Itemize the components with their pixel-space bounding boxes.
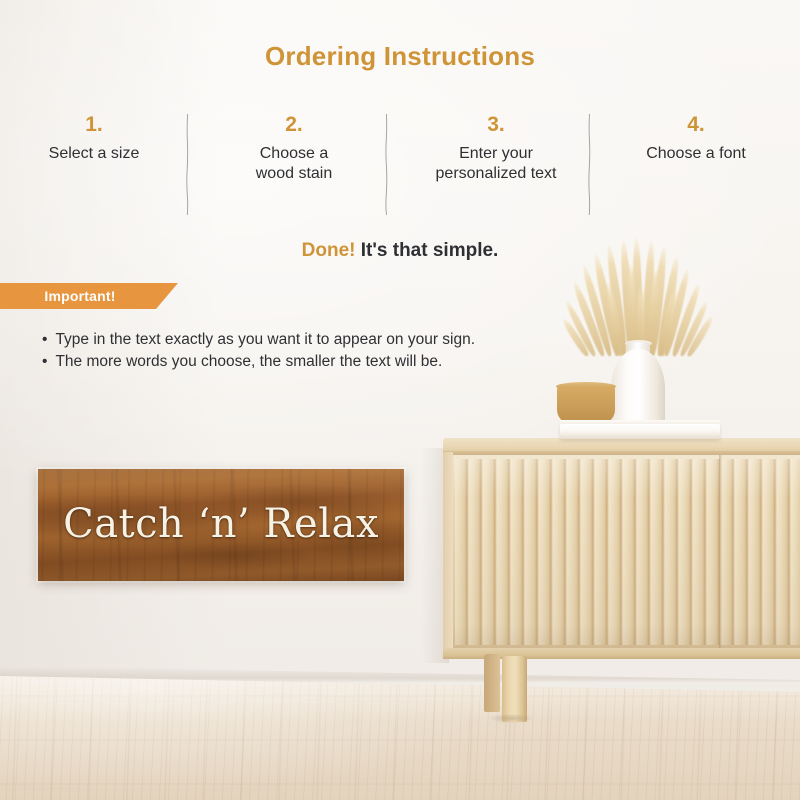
step-number: 2. — [196, 112, 392, 138]
step-item-3: 3. Enter your personalized text — [398, 112, 594, 184]
bullet-icon: • — [42, 351, 47, 373]
important-ribbon-banner: Important! — [0, 283, 178, 309]
wood-floor — [0, 674, 800, 800]
done-rest: It's that simple. — [361, 240, 499, 261]
step-item-1: 1. Select a size — [0, 112, 192, 164]
step-number: 3. — [398, 112, 594, 138]
list-item: • The more words you choose, the smaller… — [42, 351, 642, 373]
divider-line-icon — [186, 112, 189, 217]
white-book-tray — [560, 424, 720, 439]
page-title: Ordering Instructions — [0, 41, 800, 72]
step-number: 4. — [598, 112, 794, 138]
note-text: Type in the text exactly as you want it … — [55, 329, 475, 351]
cabinet-left-side-panel — [443, 452, 453, 659]
done-highlight: Done! — [302, 240, 356, 261]
cabinet-door-panel — [447, 455, 800, 651]
step-label: Enter your personalized text — [398, 144, 594, 184]
cabinet-shading — [447, 455, 800, 651]
divider-line-icon — [588, 112, 591, 217]
step-label: Select a size — [0, 144, 192, 164]
divider-line-icon — [385, 112, 388, 217]
notes-list: • Type in the text exactly as you want i… — [42, 329, 642, 373]
step-divider-3 — [588, 112, 591, 217]
note-text: The more words you choose, the smaller t… — [55, 351, 442, 373]
done-message: Done! It's that simple. — [0, 240, 800, 262]
step-divider-2 — [385, 112, 388, 217]
cabinet-leg-shadow — [479, 714, 543, 725]
step-label: Choose a wood stain — [196, 144, 392, 184]
step-divider-1 — [186, 112, 189, 217]
step-number: 1. — [0, 112, 192, 138]
step-item-2: 2. Choose a wood stain — [196, 112, 392, 184]
steps-row: 1. Select a size 2. Choose a wood stain … — [0, 112, 800, 217]
wood-sign-text: Catch ‘n’ Relax — [38, 469, 404, 581]
personalized-wood-sign: Catch ‘n’ Relax — [38, 469, 404, 581]
step-item-4: 4. Choose a font — [598, 112, 794, 164]
bullet-icon: • — [42, 329, 47, 351]
instructions-panel: Ordering Instructions 1. Select a size 2… — [0, 0, 800, 420]
cabinet-door-seam — [719, 455, 722, 651]
fluted-sideboard-cabinet — [443, 438, 800, 670]
floor-light-sheen — [0, 674, 800, 800]
cabinet-leg-rear — [484, 654, 500, 712]
cabinet-leg-front — [502, 656, 527, 722]
step-label: Choose a font — [598, 144, 794, 164]
important-label: Important! — [44, 288, 115, 304]
list-item: • Type in the text exactly as you want i… — [42, 329, 642, 351]
